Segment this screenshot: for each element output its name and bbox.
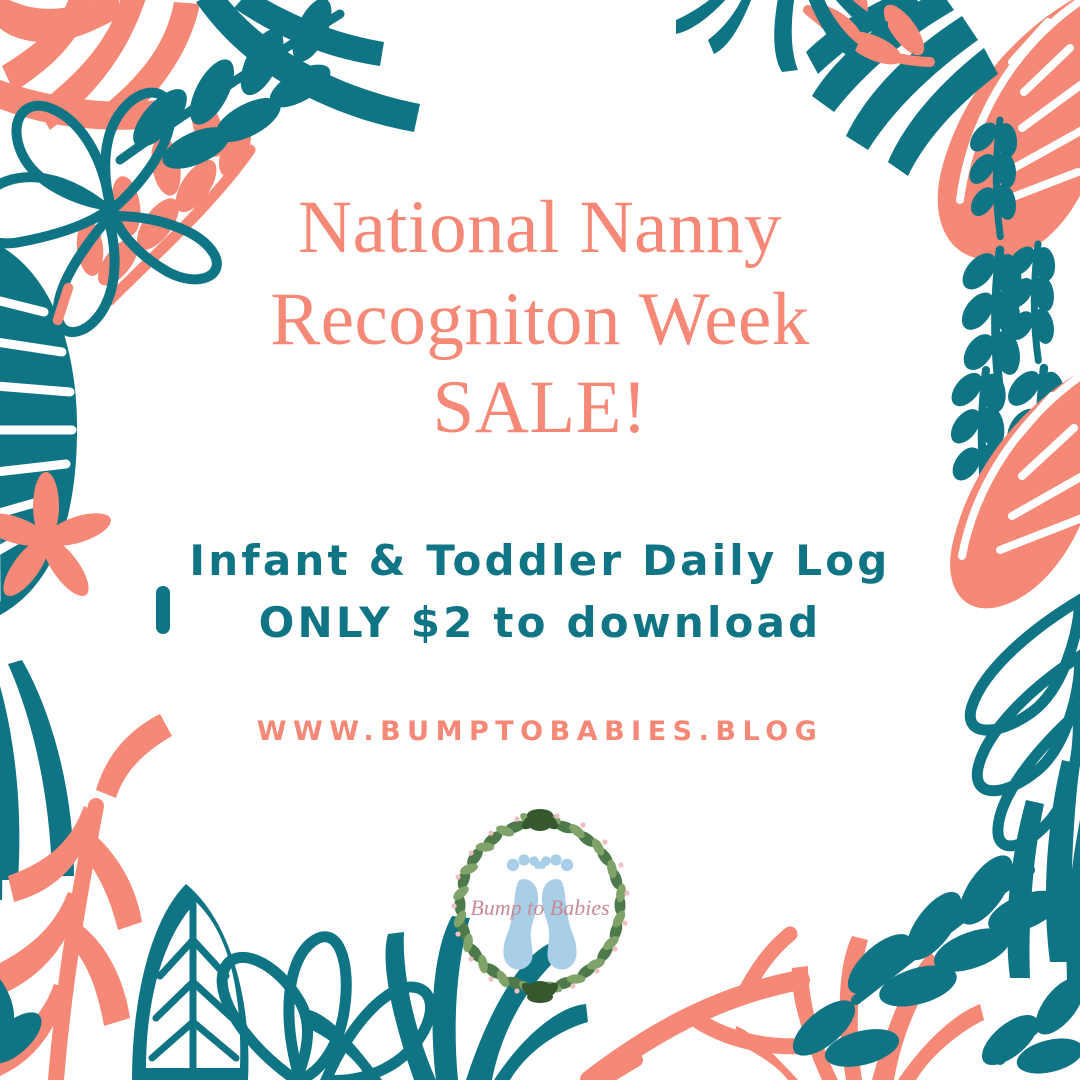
brand-logo: Bump to Babies: [435, 807, 645, 1007]
logo-brand-text: Bump to Babies: [470, 895, 609, 920]
promo-poster: National Nanny Recogniton Week SALE! Inf…: [0, 0, 1080, 1080]
headline-line-3: SALE!: [180, 362, 900, 454]
subheadline-block: Infant & Toddler Daily Log ONLY $2 to do…: [90, 530, 990, 654]
headline-block: National Nanny Recogniton Week SALE!: [180, 182, 900, 454]
subheadline-line-1: Infant & Toddler Daily Log: [90, 530, 990, 592]
subheadline-line-2: ONLY $2 to download: [90, 592, 990, 654]
headline-line-1: National Nanny: [180, 182, 900, 274]
headline-line-2: Recogniton Week: [180, 274, 900, 366]
poster-content: National Nanny Recogniton Week SALE! Inf…: [0, 0, 1080, 1080]
website-url-block[interactable]: WWW.BUMPTOBABIES.BLOG: [257, 716, 824, 747]
website-url-text[interactable]: WWW.BUMPTOBABIES.BLOG: [257, 716, 824, 747]
bump-to-babies-logo-icon: Bump to Babies: [435, 807, 645, 1007]
